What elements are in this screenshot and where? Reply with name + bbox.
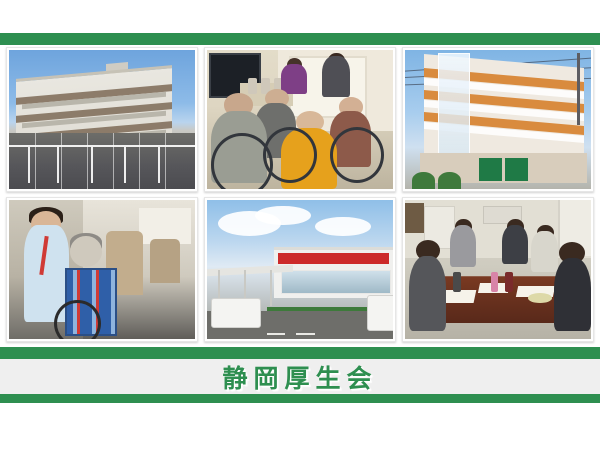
middle-green-rule bbox=[0, 347, 600, 359]
attendee bbox=[502, 225, 528, 264]
apartment-building-image bbox=[405, 50, 591, 189]
caregiver-standing bbox=[322, 56, 350, 98]
entrance-door bbox=[479, 158, 501, 180]
photo-apartment-building[interactable] bbox=[402, 47, 594, 192]
glass-frontage bbox=[281, 270, 391, 294]
title-band: 静岡厚生会 bbox=[0, 359, 600, 394]
van-seat bbox=[150, 239, 180, 283]
cloud bbox=[255, 206, 311, 225]
staff-meeting-image bbox=[405, 200, 591, 339]
wall-cabinet bbox=[405, 203, 424, 234]
top-green-rule bbox=[0, 33, 600, 45]
dayservice-center-image bbox=[207, 200, 393, 339]
bottom-green-rule bbox=[0, 394, 600, 403]
attendee bbox=[531, 231, 557, 273]
flask bbox=[453, 272, 460, 291]
photo-dayservice-center[interactable] bbox=[204, 197, 396, 342]
plate bbox=[528, 293, 552, 303]
wheelchair-wheel bbox=[330, 127, 384, 183]
photo-gallery bbox=[0, 45, 600, 342]
red-signboard bbox=[278, 253, 390, 264]
attendee bbox=[409, 256, 446, 331]
daycare-wheelchairs-image bbox=[207, 50, 393, 189]
photo-staff-meeting[interactable] bbox=[402, 197, 594, 342]
footer-white-space bbox=[0, 403, 600, 453]
hospital-exterior-image bbox=[9, 50, 195, 189]
parking-railing bbox=[9, 145, 195, 183]
photo-daycare-wheelchairs[interactable] bbox=[204, 47, 396, 192]
utility-pole bbox=[577, 53, 580, 125]
resident-head bbox=[70, 236, 102, 267]
gallery-row-1 bbox=[6, 47, 594, 192]
photo-staff-transfer-van[interactable] bbox=[6, 197, 198, 342]
bottle bbox=[491, 272, 498, 291]
photo-hospital-exterior[interactable] bbox=[6, 47, 198, 192]
white-van bbox=[211, 298, 261, 328]
flask bbox=[505, 272, 512, 291]
caregiver-purple bbox=[281, 64, 307, 95]
white-van bbox=[367, 295, 393, 330]
gallery-row-2 bbox=[6, 197, 594, 342]
staff-transfer-van-image bbox=[9, 200, 195, 339]
entrance-door bbox=[505, 158, 527, 180]
page-title: 静岡厚生会 bbox=[222, 359, 377, 395]
cloud bbox=[315, 217, 371, 236]
attendee bbox=[554, 258, 591, 330]
wheelchair-wheel bbox=[54, 300, 101, 339]
top-white-spacer bbox=[0, 0, 600, 33]
attendee bbox=[450, 225, 476, 267]
page-root: 静岡厚生会 bbox=[0, 0, 600, 450]
